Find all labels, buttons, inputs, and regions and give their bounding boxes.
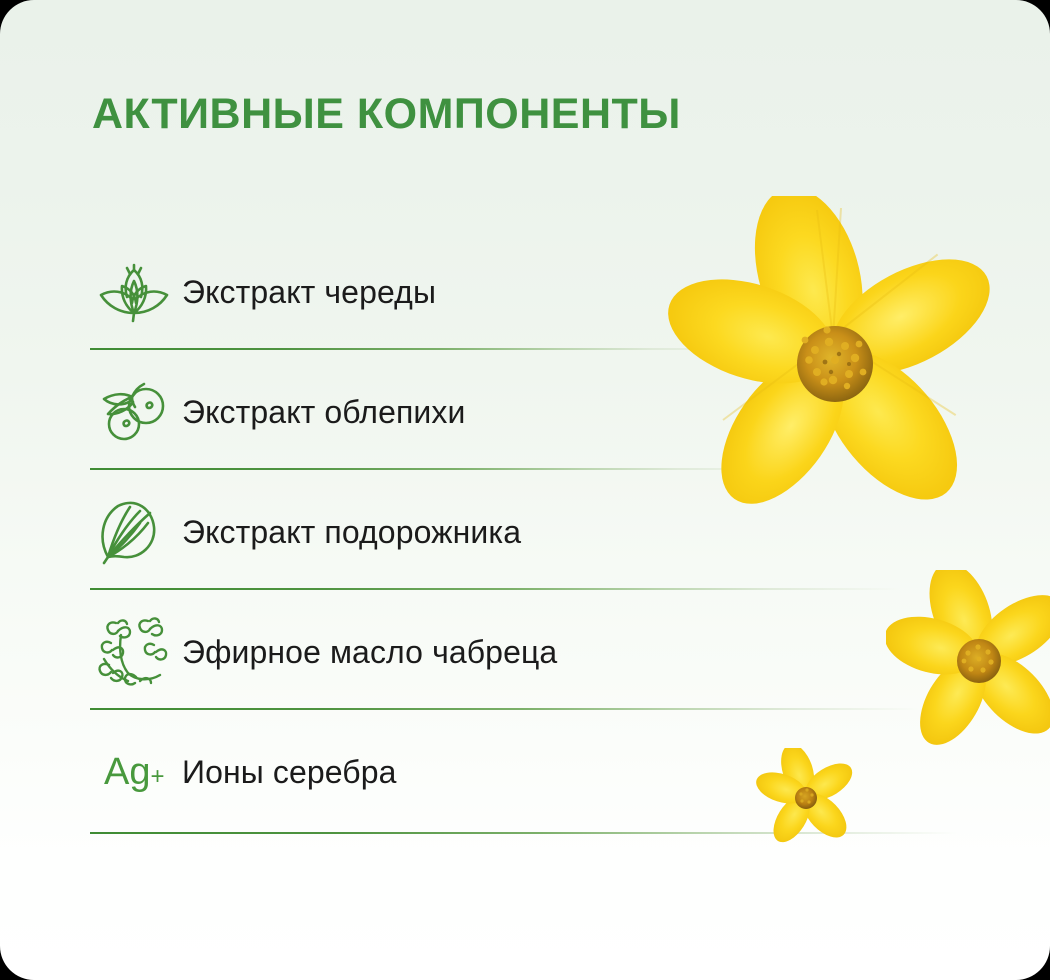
row-divider [90, 832, 958, 834]
ingredient-label: Ионы серебра [182, 752, 397, 792]
ingredient-label: Эфирное масло чабреца [182, 632, 557, 672]
silver-ion-symbol-icon: Ag+ [90, 751, 182, 794]
sea-buckthorn-berries-icon [90, 376, 182, 448]
ingredient-label: Экстракт подорожника [182, 512, 521, 552]
ingredient-label: Экстракт череды [182, 272, 436, 312]
page-title: АКТИВНЫЕ КОМПОНЕНТЫ [92, 86, 681, 142]
list-item: Ag+ Ионы серебра [90, 712, 960, 832]
plantain-leaf-icon [90, 496, 182, 568]
ingredient-label: Экстракт облепихи [182, 392, 465, 432]
list-item: Экстракт череды [90, 232, 960, 352]
thyme-sprig-icon [90, 616, 182, 688]
list-item: Экстракт подорожника [90, 472, 960, 592]
list-item: Эфирное масло чабреца [90, 592, 960, 712]
active-components-card: АКТИВНЫЕ КОМПОНЕНТЫ [0, 0, 1050, 980]
list-item: Экстракт облепихи [90, 352, 960, 472]
silver-symbol-base: Ag [104, 751, 150, 794]
bur-marigold-flower-icon [90, 256, 182, 328]
